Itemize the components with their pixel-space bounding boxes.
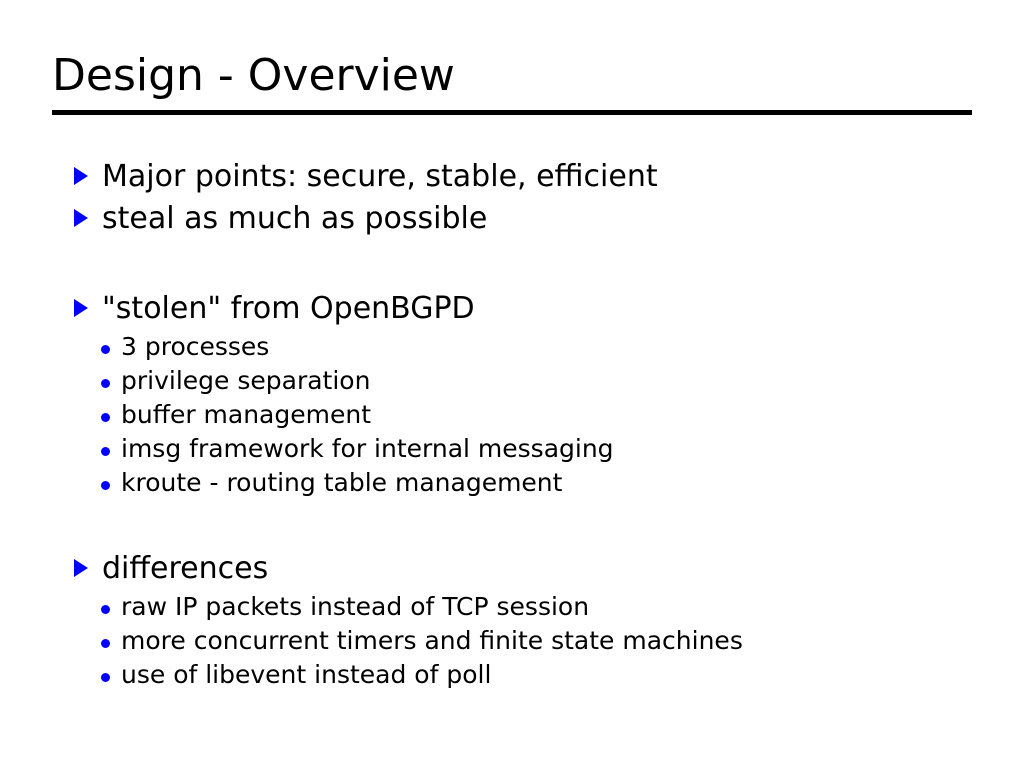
title-block: Design - Overview [52, 48, 972, 104]
sub-bullet-item: privilege separation [74, 364, 1004, 398]
sub-bullet-text: buffer management [121, 398, 371, 432]
bullet-text: steal as much as possible [102, 198, 487, 240]
triangle-right-bullet-icon [74, 559, 88, 577]
sub-bullet-item: raw IP packets instead of TCP session [74, 590, 1004, 624]
round-bullet-icon [101, 639, 110, 648]
bullet-text: "stolen" from OpenBGPD [102, 288, 475, 330]
triangle-right-bullet-icon [74, 299, 102, 317]
round-bullet-icon [101, 345, 121, 354]
triangle-right-bullet-icon [74, 209, 102, 227]
sub-bullet-text: imsg framework for internal messaging [121, 432, 614, 466]
sub-bullet-item: more concurrent timers and finite state … [74, 624, 1004, 658]
triangle-right-bullet-icon [74, 209, 88, 227]
stolen-from-openbgpd-group: "stolen" from OpenBGPD3 processesprivile… [74, 288, 1004, 500]
triangle-right-bullet-icon [74, 167, 102, 185]
sub-bullet-text: more concurrent timers and finite state … [121, 624, 743, 658]
bullet-text: differences [102, 548, 268, 590]
round-bullet-icon [101, 605, 110, 614]
sub-bullet-text: kroute - routing table management [121, 466, 562, 500]
triangle-right-bullet-icon [74, 559, 102, 577]
bullet-text: Major points: secure, stable, efficient [102, 156, 658, 198]
sub-bullet-item: imsg framework for internal messaging [74, 432, 1004, 466]
round-bullet-icon [101, 413, 110, 422]
sub-bullet-text: raw IP packets instead of TCP session [121, 590, 589, 624]
round-bullet-icon [101, 379, 110, 388]
round-bullet-icon [101, 345, 110, 354]
bullet-item: Major points: secure, stable, efficient [74, 156, 1004, 198]
bullet-item: "stolen" from OpenBGPD [74, 288, 1004, 330]
sub-bullet-text: 3 processes [121, 330, 269, 364]
bullet-item: differences [74, 548, 1004, 590]
round-bullet-icon [101, 673, 110, 682]
bullet-list: Major points: secure, stable, efficients… [74, 156, 1004, 692]
major-points-group: Major points: secure, stable, efficients… [74, 156, 1004, 240]
differences-group: differencesraw IP packets instead of TCP… [74, 548, 1004, 692]
round-bullet-icon [101, 447, 110, 456]
title-divider [52, 110, 972, 115]
round-bullet-icon [101, 481, 121, 490]
sub-bullet-text: privilege separation [121, 364, 370, 398]
round-bullet-icon [101, 481, 110, 490]
sub-bullet-text: use of libevent instead of poll [121, 658, 491, 692]
round-bullet-icon [101, 673, 121, 682]
triangle-right-bullet-icon [74, 299, 88, 317]
sub-bullet-item: kroute - routing table management [74, 466, 1004, 500]
round-bullet-icon [101, 413, 121, 422]
round-bullet-icon [101, 639, 121, 648]
page-title: Design - Overview [52, 48, 972, 104]
bullet-item: steal as much as possible [74, 198, 1004, 240]
sub-bullet-item: 3 processes [74, 330, 1004, 364]
round-bullet-icon [101, 605, 121, 614]
group-spacer [74, 240, 1004, 288]
triangle-right-bullet-icon [74, 167, 88, 185]
round-bullet-icon [101, 379, 121, 388]
group-spacer [74, 500, 1004, 548]
slide-body: Major points: secure, stable, efficients… [74, 156, 1004, 692]
sub-bullet-item: buffer management [74, 398, 1004, 432]
sub-bullet-item: use of libevent instead of poll [74, 658, 1004, 692]
round-bullet-icon [101, 447, 121, 456]
presentation-slide: Design - Overview Major points: secure, … [0, 0, 1024, 768]
